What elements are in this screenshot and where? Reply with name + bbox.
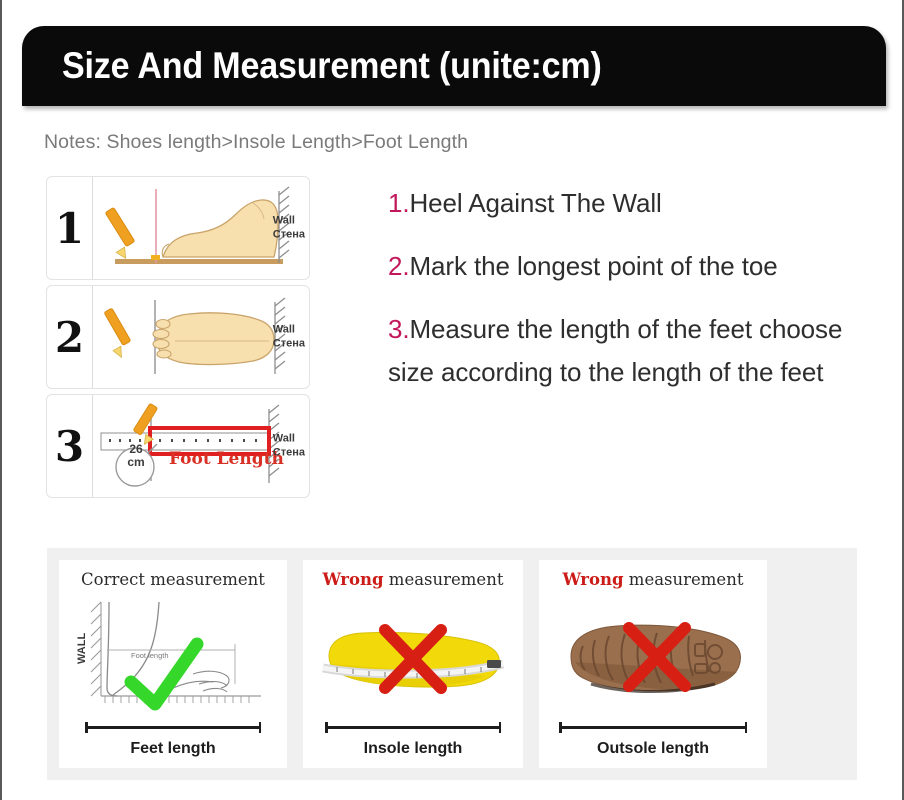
comparison-status-outsole: Wrong <box>563 570 624 589</box>
correct-measurement-diagram: Foot length WALL <box>73 596 273 726</box>
comparison-card-correct: Correct measurement <box>59 560 287 768</box>
comparison-title-outsole: Wrong measurement <box>539 570 767 589</box>
comparison-caption-outsole: Outsole length <box>539 740 767 758</box>
header-banner: Size And Measurement (unite:cm) <box>22 26 886 106</box>
step-number-3: 3 <box>47 395 93 497</box>
wall-label-ru: Стена <box>273 228 305 240</box>
wall-label-ru: Стена <box>273 446 305 458</box>
wall-vertical-label: WALL <box>76 633 88 664</box>
instruction-number-3: 3. <box>388 314 409 344</box>
wall-label-3: Wall Стена <box>273 432 305 460</box>
notes-line: Notes: Shoes length>Insole Length>Foot L… <box>44 131 468 154</box>
wall-label-1: Wall Стена <box>273 214 305 242</box>
wall-label-ru: Стена <box>273 337 305 349</box>
wall-label-en: Wall <box>273 323 295 335</box>
dimension-line-feet <box>85 722 261 732</box>
wall-label-2: Wall Стена <box>273 323 305 351</box>
step-card-2: 2 <box>46 285 310 389</box>
comparison-title-insole: Wrong measurement <box>303 570 523 589</box>
comparison-title-rest: measurement <box>624 570 744 589</box>
dimension-line-outsole <box>559 722 747 732</box>
instruction-text-2: Mark the longest point of the toe <box>409 251 777 281</box>
measurement-callout: 26 cm <box>115 443 157 468</box>
comparison-title-correct: Correct measurement <box>59 570 287 589</box>
step-number-2: 2 <box>47 286 93 388</box>
foot-length-label: Foot Length <box>169 449 284 469</box>
step-card-3: 3 <box>46 394 310 498</box>
insole-measurement-diagram <box>315 612 511 712</box>
comparison-status-insole: Wrong <box>323 570 384 589</box>
wall-label-en: Wall <box>273 432 295 444</box>
instruction-number-2: 2. <box>388 251 409 281</box>
comparison-caption-insole: Insole length <box>303 740 523 758</box>
instruction-number-1: 1. <box>388 188 409 218</box>
comparison-card-insole: Wrong measurement <box>303 560 523 768</box>
step-card-1: 1 <box>46 176 310 280</box>
comparison-title-rest: measurement <box>145 570 265 589</box>
wall-label-en: Wall <box>273 214 295 226</box>
page-title: Size And Measurement (unite:cm) <box>62 45 602 87</box>
comparison-caption-feet: Feet length <box>59 740 287 758</box>
comparison-status-correct: Correct <box>81 570 145 589</box>
instruction-text-1: Heel Against The Wall <box>409 188 661 218</box>
dimension-line-insole <box>325 722 501 732</box>
comparison-card-outsole: Wrong measurement <box>539 560 767 768</box>
outsole-measurement-diagram <box>555 610 751 712</box>
comparison-strip: Correct measurement <box>47 548 857 780</box>
size-chart-page: Size And Measurement (unite:cm) Notes: S… <box>0 0 904 800</box>
measurement-unit: cm <box>127 455 144 469</box>
instruction-item-2: 2.Mark the longest point of the toe <box>388 245 888 288</box>
instruction-list: 1.Heel Against The Wall 2.Mark the longe… <box>388 182 888 414</box>
instruction-item-1: 1.Heel Against The Wall <box>388 182 888 225</box>
step-number-1: 1 <box>47 177 93 279</box>
comparison-title-rest: measurement <box>384 570 504 589</box>
step-illustrations: 1 <box>46 176 310 503</box>
instruction-item-3: 3.Measure the length of the feet choose … <box>388 308 888 394</box>
instruction-text-3: Measure the length of the feet choose si… <box>388 314 842 387</box>
svg-text:Foot length: Foot length <box>131 651 169 660</box>
